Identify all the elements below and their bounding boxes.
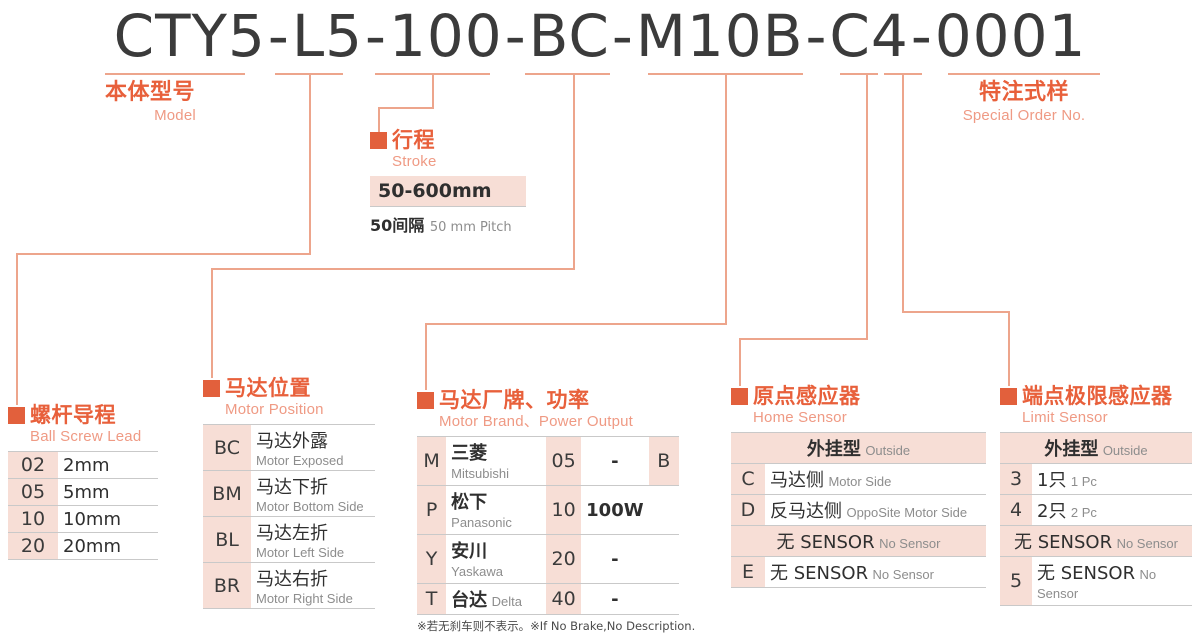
section-ball-screw-lead: 螺杆导程 Ball Screw Lead 02 2mm 05 5mm 10 10… [8, 405, 158, 560]
section-model-title-cn: 本体型号 [105, 82, 245, 104]
home-band-outside-cn: 外挂型 [807, 439, 861, 460]
brand-output-1: 100W [581, 486, 648, 535]
limit-band-nosensor-en: No Sensor [1117, 536, 1178, 551]
connector-motorbrand-h [425, 323, 727, 325]
stroke-pitch: 50间隔 50 mm Pitch [370, 212, 526, 236]
code-separator: - [803, 2, 829, 70]
limit-value-2: 无 SENSOR No Sensor [1032, 557, 1192, 606]
limit-code-1: 4 [1000, 495, 1032, 526]
bullet-square-icon [8, 407, 25, 424]
brand-name-cn-1: 松下 [451, 492, 487, 513]
lead-code-3: 20 [8, 533, 58, 560]
brand-name-0: 三菱 Mitsubishi [446, 437, 546, 486]
lead-code-0: 02 [8, 452, 58, 479]
limit-code-0: 3 [1000, 464, 1032, 495]
home-value-en-1: OppoSite Motor Side [846, 505, 967, 520]
brand-output-2: - [581, 535, 648, 584]
limit-value-1: 2只 2 Pc [1032, 495, 1192, 526]
code-separator: - [503, 2, 529, 70]
code-segment-model: CTY5 [114, 2, 266, 70]
table-row: 5 无 SENSOR No Sensor [1000, 557, 1192, 606]
section-motor-brand: 马达厂牌、功率 Motor Brand、Power Output M 三菱 Mi… [417, 390, 695, 634]
home-band-outside: 外挂型 Outside [731, 433, 986, 464]
section-homesensor-title-cn: 原点感应器 [753, 386, 861, 407]
section-motorbrand-title-en: Motor Brand、Power Output [439, 413, 695, 430]
brand-power-code-1: 10 [546, 486, 581, 535]
motorpos-code-1: BM [203, 471, 251, 517]
connector-motorpos-h [211, 268, 575, 270]
brand-output-value-1: 100W [586, 500, 643, 521]
table-band-row: 外挂型 Outside [1000, 433, 1192, 464]
lead-value-cn-2: 10mm [63, 509, 121, 530]
brand-name-cn-0: 三菱 [451, 443, 487, 464]
home-value-cn-2: 无 SENSOR [770, 563, 868, 584]
bullet-square-icon [203, 380, 220, 397]
section-stroke: 行程 Stroke 50-600mm 50间隔 50 mm Pitch [370, 130, 526, 236]
connector-motorbrand-v1 [725, 73, 727, 325]
table-band-row: 无 SENSOR No Sensor [731, 526, 986, 557]
home-band-nosensor-cn: 无 SENSOR [777, 532, 875, 553]
motorpos-value-cn-2: 马达左折 [256, 519, 370, 545]
table-row: T 台达 Delta 40 - [417, 584, 679, 615]
brand-code-0: M [417, 437, 446, 486]
section-special-order: 特注式样 Special Order No. [948, 82, 1100, 124]
table-row: 4 2只 2 Pc [1000, 495, 1192, 526]
limit-band-outside: 外挂型 Outside [1000, 433, 1192, 464]
connector-motorpos-v1 [573, 73, 575, 270]
table-band-row: 外挂型 Outside [731, 433, 986, 464]
connector-homesensor-v2 [739, 338, 741, 386]
code-segment-sensors: C4 [829, 2, 908, 70]
table-home-sensor: 外挂型 Outside C 马达侧 Motor Side D 反马达侧 Oppo… [731, 432, 986, 588]
home-band-nosensor: 无 SENSOR No Sensor [731, 526, 986, 557]
lead-value-0: 2mm [58, 452, 158, 479]
brand-name-cn-2: 安川 [451, 541, 487, 562]
connector-limitsensor-v2 [1008, 311, 1010, 386]
limit-value-0: 1只 1 Pc [1032, 464, 1192, 495]
connector-homesensor-v1 [866, 73, 868, 340]
section-limitsensor-heading: 端点极限感应器 [1000, 386, 1192, 407]
motorpos-value-cn-0: 马达外露 [256, 427, 370, 453]
bullet-square-icon [1000, 388, 1017, 405]
section-special-order-title-cn: 特注式样 [948, 82, 1100, 104]
motorpos-code-2: BL [203, 517, 251, 563]
table-row: D 反马达侧 OppoSite Motor Side [731, 495, 986, 526]
connector-lead-v2 [16, 253, 18, 405]
connector-homesensor-h [739, 338, 868, 340]
section-special-order-title-en: Special Order No. [948, 107, 1100, 124]
motorpos-value-en-1: Motor Bottom Side [256, 499, 370, 514]
motorpos-value-cn-3: 马达右折 [256, 565, 370, 591]
home-value-0: 马达侧 Motor Side [765, 464, 986, 495]
bullet-square-icon [370, 132, 387, 149]
table-row: BR 马达右折 Motor Right Side [203, 563, 375, 609]
code-separator: - [610, 2, 636, 70]
table-row: 20 20mm [8, 533, 158, 560]
bullet-square-icon [731, 388, 748, 405]
connector-motorbrand-v2 [425, 323, 427, 390]
table-motor-position: BC 马达外露 Motor Exposed BM 马达下折 Motor Bott… [203, 424, 375, 609]
table-row: C 马达侧 Motor Side [731, 464, 986, 495]
brand-brake-2 [649, 535, 679, 584]
connector-motorpos-v2 [211, 268, 213, 378]
motorpos-value-1: 马达下折 Motor Bottom Side [251, 471, 375, 517]
section-limitsensor-title-en: Limit Sensor [1022, 409, 1192, 426]
table-row: BL 马达左折 Motor Left Side [203, 517, 375, 563]
section-motorpos-title-en: Motor Position [225, 401, 375, 418]
section-limitsensor-title-cn: 端点极限感应器 [1022, 386, 1173, 407]
limit-band-nosensor: 无 SENSOR No Sensor [1000, 526, 1192, 557]
lead-code-1: 05 [8, 479, 58, 506]
lead-value-2: 10mm [58, 506, 158, 533]
lead-value-cn-3: 20mm [63, 536, 121, 557]
underline-motor-position [525, 73, 610, 75]
motorpos-value-en-0: Motor Exposed [256, 453, 370, 468]
table-row: 05 5mm [8, 479, 158, 506]
home-value-en-0: Motor Side [828, 474, 891, 489]
brand-output-value-3: - [611, 589, 618, 610]
home-value-cn-0: 马达侧 [770, 470, 824, 491]
section-limit-sensor: 端点极限感应器 Limit Sensor 外挂型 Outside 3 1只 1 … [1000, 386, 1192, 606]
limit-value-en-1: 2 Pc [1071, 505, 1097, 520]
brand-code-1: P [417, 486, 446, 535]
stroke-pitch-en: 50 mm Pitch [430, 220, 512, 235]
product-code-diagram: CTY5-L5-100-BC-M10B-C4-0001 本体型号 Model 行… [0, 0, 1200, 575]
table-row: BC 马达外露 Motor Exposed [203, 425, 375, 471]
section-stroke-title-en: Stroke [392, 153, 526, 170]
brand-brake-3 [649, 584, 679, 615]
home-value-cn-1: 反马达侧 [770, 501, 842, 522]
table-row: E 无 SENSOR No Sensor [731, 557, 986, 588]
brand-output-3: - [581, 584, 648, 615]
brand-name-cn-3: 台达 [451, 590, 487, 611]
connector-lead-v1 [309, 73, 311, 255]
brand-output-0: - [581, 437, 648, 486]
connector-lead-h [16, 253, 311, 255]
brand-power-code-0: 05 [546, 437, 581, 486]
section-motorbrand-title-cn: 马达厂牌、功率 [439, 390, 590, 411]
motorpos-value-2: 马达左折 Motor Left Side [251, 517, 375, 563]
section-home-sensor: 原点感应器 Home Sensor 外挂型 Outside C 马达侧 Moto… [731, 386, 986, 588]
underline-model [105, 73, 245, 75]
motorpos-value-en-2: Motor Left Side [256, 545, 370, 560]
brand-brake-0: B [649, 437, 679, 486]
table-row: 10 10mm [8, 506, 158, 533]
limit-value-cn-2: 无 SENSOR [1037, 563, 1135, 584]
lead-value-cn-1: 5mm [63, 482, 110, 503]
home-code-2: E [731, 557, 765, 588]
underline-home-sensor [840, 73, 878, 75]
home-code-1: D [731, 495, 765, 526]
section-model-title-en: Model [105, 107, 245, 124]
connector-limitsensor-v1 [902, 73, 904, 313]
limit-value-cn-0: 1只 [1037, 470, 1066, 491]
table-row: BM 马达下折 Motor Bottom Side [203, 471, 375, 517]
limit-band-outside-cn: 外挂型 [1044, 439, 1098, 460]
section-lead-heading: 螺杆导程 [8, 405, 158, 426]
code-segment-special-order: 0001 [935, 2, 1087, 70]
table-band-row: 无 SENSOR No Sensor [1000, 526, 1192, 557]
table-row: Y 安川 Yaskawa 20 - [417, 535, 679, 584]
code-separator: - [363, 2, 389, 70]
product-code-line: CTY5-L5-100-BC-M10B-C4-0001 [0, 2, 1200, 70]
section-motorpos-heading: 马达位置 [203, 378, 375, 399]
brand-power-code-2: 20 [546, 535, 581, 584]
brand-output-value-0: - [611, 451, 618, 472]
code-separator: - [266, 2, 292, 70]
connector-stroke-h [378, 107, 434, 109]
section-motorpos-title-cn: 马达位置 [225, 378, 311, 399]
brand-name-en-1: Panasonic [451, 515, 512, 530]
underline-special-order [948, 73, 1100, 75]
section-homesensor-title-en: Home Sensor [753, 409, 986, 426]
code-segment-stroke: 100 [389, 2, 503, 70]
table-row: 3 1只 1 Pc [1000, 464, 1192, 495]
stroke-pitch-cn: 50间隔 [370, 216, 424, 235]
code-segment-lead: L5 [292, 2, 363, 70]
code-segment-motor-brand: M10B [636, 2, 804, 70]
lead-value-3: 20mm [58, 533, 158, 560]
brand-brake-1 [649, 486, 679, 535]
limit-value-cn-1: 2只 [1037, 501, 1066, 522]
motorpos-value-3: 马达右折 Motor Right Side [251, 563, 375, 609]
bullet-square-icon [417, 392, 434, 409]
lead-value-cn-0: 2mm [63, 455, 110, 476]
section-lead-title-en: Ball Screw Lead [30, 428, 158, 445]
table-ball-screw-lead: 02 2mm 05 5mm 10 10mm 20 20mm [8, 451, 158, 560]
motorpos-value-en-3: Motor Right Side [256, 591, 370, 606]
lead-value-1: 5mm [58, 479, 158, 506]
brand-name-3: 台达 Delta [446, 584, 546, 615]
table-row: M 三菱 Mitsubishi 05 - B [417, 437, 679, 486]
brand-name-2: 安川 Yaskawa [446, 535, 546, 584]
home-code-0: C [731, 464, 765, 495]
brand-output-value-2: - [611, 549, 618, 570]
connector-stroke-v1 [432, 73, 434, 109]
section-homesensor-heading: 原点感应器 [731, 386, 986, 407]
motorpos-code-0: BC [203, 425, 251, 471]
motorpos-value-cn-1: 马达下折 [256, 473, 370, 499]
table-limit-sensor: 外挂型 Outside 3 1只 1 Pc 4 2只 2 Pc 无 SENSOR… [1000, 432, 1192, 606]
limit-code-2: 5 [1000, 557, 1032, 606]
home-band-outside-en: Outside [865, 443, 910, 458]
brand-name-1: 松下 Panasonic [446, 486, 546, 535]
limit-band-outside-en: Outside [1103, 443, 1148, 458]
brand-code-2: Y [417, 535, 446, 584]
brand-code-3: T [417, 584, 446, 615]
home-value-2: 无 SENSOR No Sensor [765, 557, 986, 588]
section-model: 本体型号 Model [105, 82, 245, 124]
section-motorbrand-heading: 马达厂牌、功率 [417, 390, 695, 411]
home-band-nosensor-en: No Sensor [879, 536, 940, 551]
motorpos-code-3: BR [203, 563, 251, 609]
limit-band-nosensor-cn: 无 SENSOR [1014, 532, 1112, 553]
code-segment-motor-position: BC [529, 2, 610, 70]
home-value-1: 反马达侧 OppoSite Motor Side [765, 495, 986, 526]
section-lead-title-cn: 螺杆导程 [30, 405, 116, 426]
table-row: P 松下 Panasonic 10 100W [417, 486, 679, 535]
table-motor-brand: M 三菱 Mitsubishi 05 - B P 松下 Panasonic 10… [417, 436, 679, 615]
section-stroke-title-cn: 行程 [392, 130, 435, 151]
section-stroke-heading: 行程 [370, 130, 526, 151]
brand-name-en-2: Yaskawa [451, 564, 503, 579]
motor-brand-note: ※若无刹车则不表示。※If No Brake,No Description. [417, 618, 695, 634]
connector-limitsensor-h [902, 311, 1010, 313]
stroke-range-value: 50-600mm [370, 176, 526, 207]
brand-name-en-3: Delta [492, 594, 522, 609]
limit-value-en-0: 1 Pc [1071, 474, 1097, 489]
motorpos-value-0: 马达外露 Motor Exposed [251, 425, 375, 471]
code-separator: - [909, 2, 935, 70]
brand-power-code-3: 40 [546, 584, 581, 615]
lead-code-2: 10 [8, 506, 58, 533]
brand-name-en-0: Mitsubishi [451, 466, 509, 481]
table-row: 02 2mm [8, 452, 158, 479]
